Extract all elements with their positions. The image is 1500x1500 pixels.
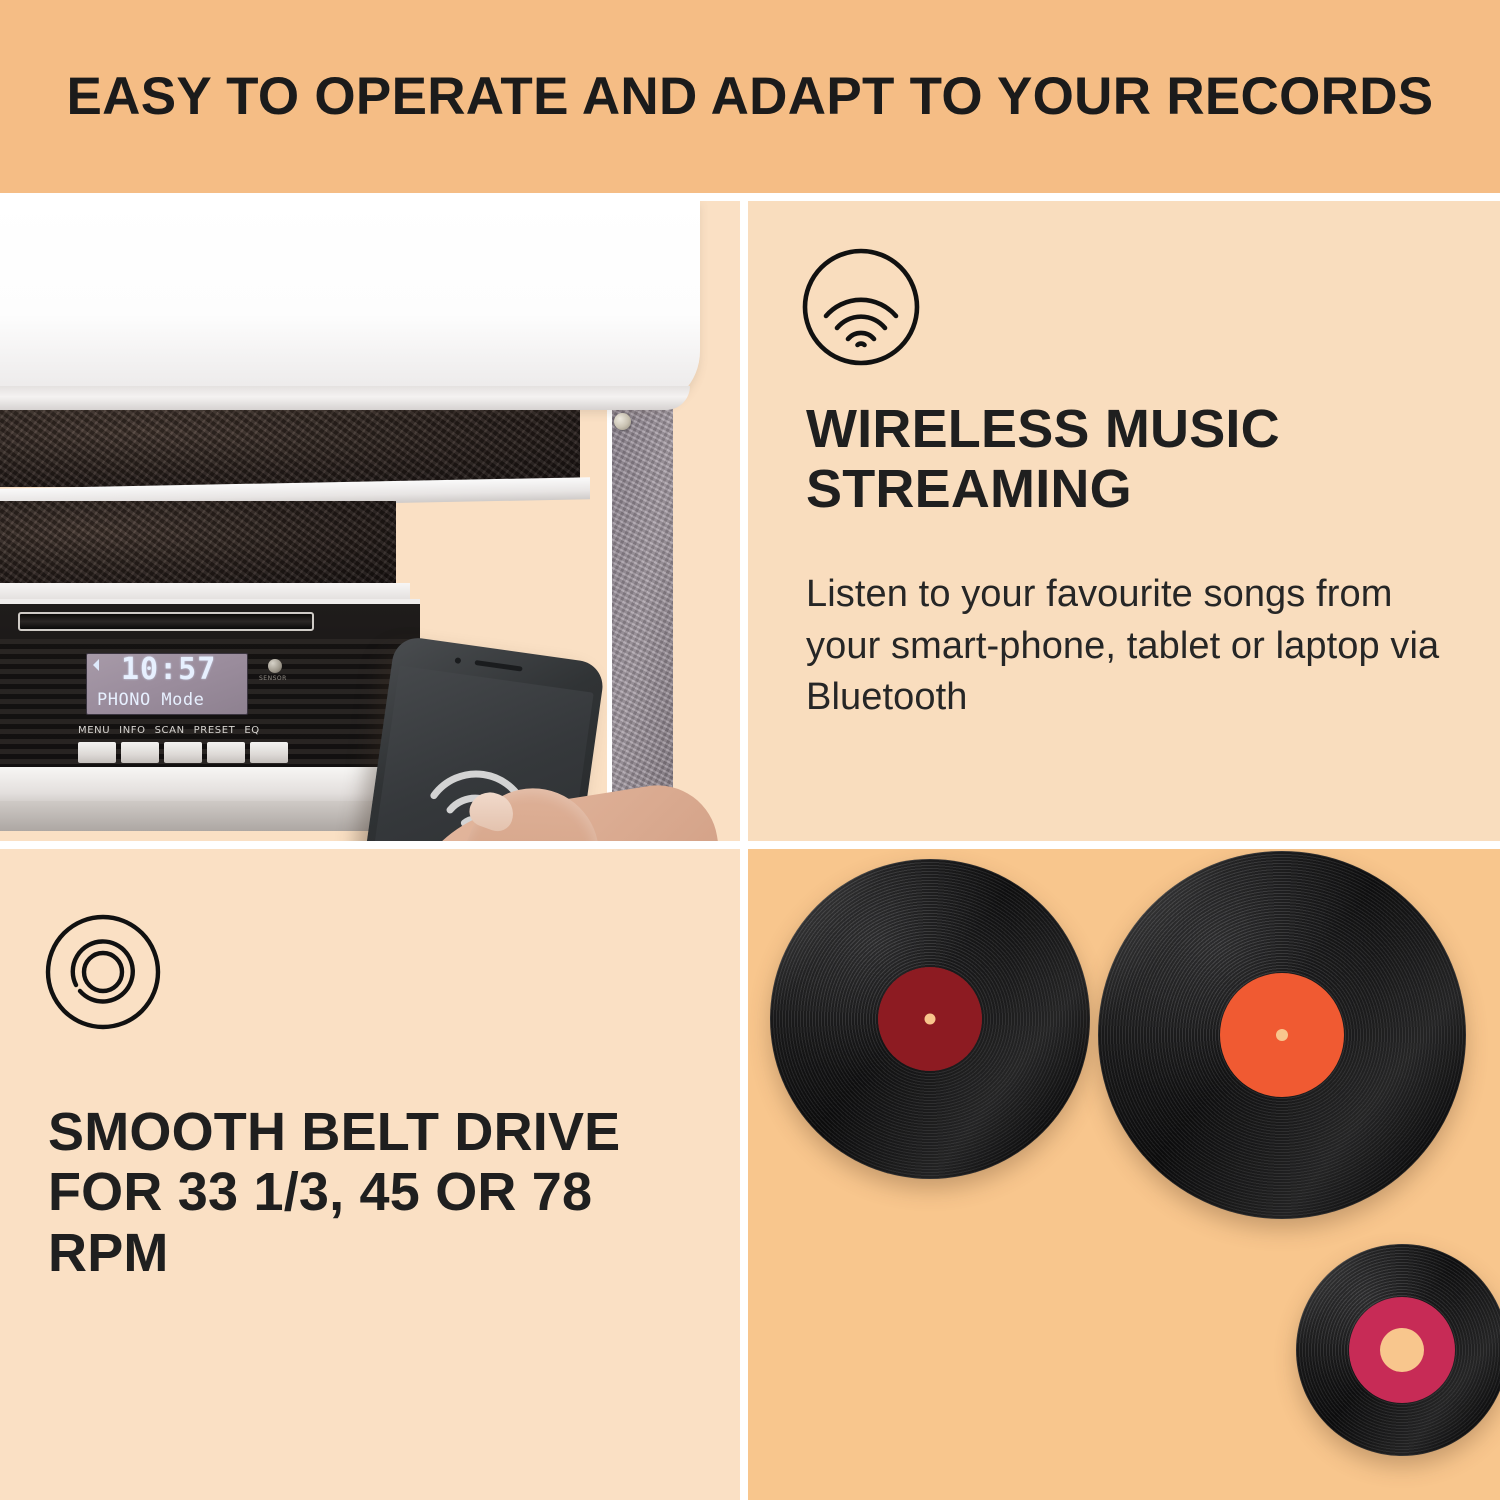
speaker-grille-lower [0, 501, 396, 586]
quadrant-vinyl-records [748, 849, 1500, 1500]
record-spindle-hole [1276, 1029, 1288, 1041]
cd-slot[interactable] [18, 612, 314, 631]
belt-drive-heading: SMOOTH BELT DRIVE FOR 33 1/3, 45 OR 78 R… [48, 1102, 708, 1283]
record-orange-label [1098, 851, 1466, 1219]
lcd-time: 10:57 [121, 655, 216, 685]
menu-button[interactable] [78, 742, 116, 763]
sensor-label: SENSOR [259, 675, 287, 682]
wireless-signal-circle-icon [800, 246, 922, 368]
button-label-preset: PRESET [194, 725, 236, 736]
wireless-streaming-heading: WIRELESS MUSIC STREAMING [806, 399, 1466, 520]
button-label-menu: MENU [78, 725, 110, 736]
quadrant-belt-drive: SMOOTH BELT DRIVE FOR 33 1/3, 45 OR 78 R… [0, 849, 740, 1500]
turntable-photo: auna 10:57 PHONO Mode SENSOR MENU INFO S… [0, 201, 740, 841]
info-button[interactable] [121, 742, 159, 763]
infographic-page: EASY TO OPERATE AND ADAPT TO YOUR RECORD… [0, 0, 1500, 1500]
button-label-eq: EQ [244, 725, 259, 736]
record-red-label [770, 859, 1090, 1179]
button-row [78, 742, 288, 763]
vinyl-record-circles-icon [42, 911, 164, 1033]
scan-button[interactable] [164, 742, 202, 763]
phone-earpiece [474, 660, 522, 672]
record-spindle-hole [925, 1014, 936, 1025]
wireless-streaming-body: Listen to your favourite songs from your… [806, 569, 1456, 724]
panel-screw [614, 413, 631, 430]
ir-sensor-icon [268, 659, 282, 673]
record-large-center-hole [1380, 1328, 1424, 1372]
preset-button[interactable] [207, 742, 245, 763]
turntable-lid [0, 201, 700, 409]
record-pink-label [1296, 1244, 1500, 1456]
phone-camera-icon [455, 657, 462, 664]
lcd-mode: PHONO Mode [97, 690, 204, 710]
lcd-display: 10:57 PHONO Mode [86, 653, 248, 715]
side-speaker-panel [607, 397, 673, 801]
button-label-scan: SCAN [155, 725, 185, 736]
quadrant-top-left-photo: auna 10:57 PHONO Mode SENSOR MENU INFO S… [0, 201, 740, 841]
speaker-grille-upper [0, 401, 580, 487]
lcd-speaker-icon [93, 659, 99, 671]
page-title: EASY TO OPERATE AND ADAPT TO YOUR RECORD… [67, 66, 1434, 127]
button-label-info: INFO [119, 725, 145, 736]
quadrant-wireless-streaming: WIRELESS MUSIC STREAMING Listen to your … [748, 201, 1500, 841]
turntable-lid-edge [0, 386, 690, 410]
button-labels: MENU INFO SCAN PRESET EQ [78, 725, 278, 736]
eq-button[interactable] [250, 742, 288, 763]
header-banner: EASY TO OPERATE AND ADAPT TO YOUR RECORD… [0, 0, 1500, 193]
